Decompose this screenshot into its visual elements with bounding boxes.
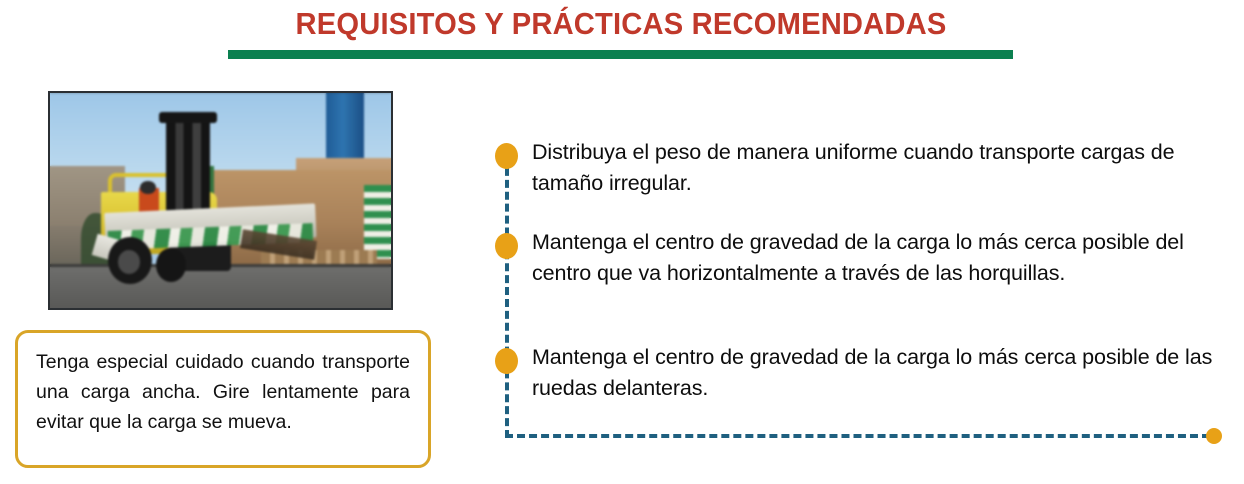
bullet-dot-icon (495, 143, 518, 169)
page-title: REQUISITOS Y PRÁCTICAS RECOMENDADAS (252, 6, 991, 42)
list-item-label: Distribuya el peso de manera uniforme cu… (532, 137, 1235, 199)
timeline-end-dot-icon (1206, 428, 1222, 444)
photo-operator-head (140, 181, 155, 194)
list-item-label: Mantenga el centro de gravedad de la car… (532, 227, 1235, 289)
photo-forklift-mast-top (159, 112, 217, 123)
list-item: Distribuya el peso de manera uniforme cu… (495, 137, 1235, 199)
list-item: Mantenga el centro de gravedad de la car… (495, 342, 1235, 404)
title-underline-rule (228, 50, 1013, 59)
photo-green-pallet-stack (364, 185, 391, 258)
list-item-label: Mantenga el centro de gravedad de la car… (532, 342, 1235, 404)
photo-pavement (50, 267, 391, 308)
list-item: Mantenga el centro de gravedad de la car… (495, 227, 1235, 289)
caution-callout-box: Tenga especial cuidado cuando transporte… (15, 330, 431, 468)
caution-callout-text: Tenga especial cuidado cuando transporte… (36, 347, 410, 437)
forklift-photo (48, 91, 393, 310)
photo-front-wheel-hub (118, 250, 140, 274)
bullet-dot-icon (495, 233, 518, 259)
timeline-horizontal-dashed-line (505, 434, 1210, 438)
bullet-dot-icon (495, 348, 518, 374)
